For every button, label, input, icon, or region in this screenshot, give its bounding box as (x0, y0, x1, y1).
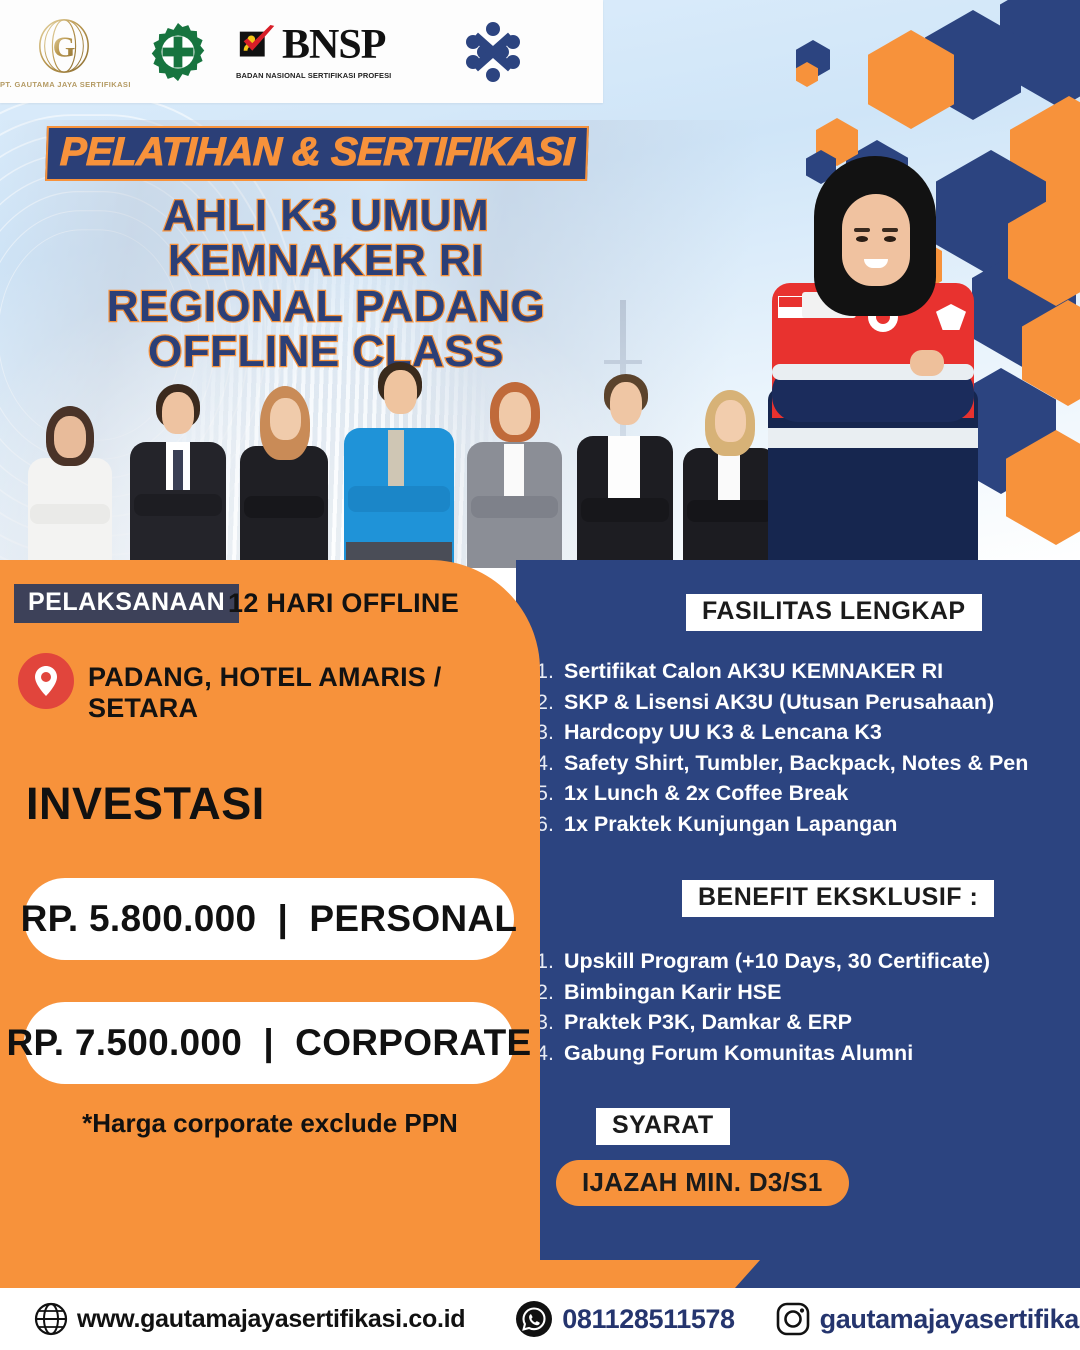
footer-website[interactable]: www.gautamajayasertifikasi.co.id (34, 1302, 465, 1336)
footer-instagram[interactable]: gautamajayasertifikasi (775, 1301, 1080, 1337)
price-card-corporate: RP. 7.500.000 | CORPORATE (24, 1002, 514, 1084)
footer-website-text: www.gautamajayasertifikasi.co.id (77, 1305, 465, 1334)
person-3 (234, 382, 334, 568)
whatsapp-icon (515, 1300, 553, 1338)
k3-gear-icon (147, 21, 209, 83)
benefits-list: 1.Upskill Program (+10 Days, 30 Certific… (536, 946, 990, 1068)
instagram-icon (775, 1301, 811, 1337)
kan-logo (418, 20, 568, 84)
gautama-logo-caption: PT. GAUTAMA JAYA SERTIFIKASI (0, 80, 128, 89)
bnsp-logo-caption: BADAN NASIONAL SERTIFIKASI PROFESI (236, 71, 418, 80)
requirement-value: IJAZAH MIN. D3/S1 (556, 1160, 849, 1206)
headline-title: AHLI K3 UMUM KEMNAKER RI REGIONAL PADANG… (46, 193, 606, 374)
schedule-label: PELAKSANAAN (14, 584, 239, 623)
orange-info-panel: PELAKSANAAN 12 HARI OFFLINE PADANG, HOTE… (0, 560, 540, 1260)
safety-officer-photo (728, 148, 1028, 568)
person-5 (462, 378, 568, 568)
headline-banner: PELATIHAN & SERTIFIKASI (45, 126, 589, 181)
title-line-1: AHLI K3 UMUM (46, 193, 606, 238)
bnsp-logo: BNSP BADAN NASIONAL SERTIFIKASI PROFESI (228, 24, 418, 80)
price-personal-text: RP. 5.800.000 | PERSONAL (21, 898, 518, 940)
navy-info-panel: FASILITAS LENGKAP 1.Sertifikat Calon AK3… (516, 560, 1080, 1288)
footer-instagram-text: gautamajayasertifikasi (820, 1304, 1080, 1335)
facilities-list: 1.Sertifikat Calon AK3U KEMNAKER RI 2.SK… (536, 656, 1028, 839)
schedule-venue: PADANG, HOTEL AMARIS / SETARA (88, 662, 540, 724)
list-item: 3.Hardcopy UU K3 & Lencana K3 (536, 717, 1028, 748)
list-item: 4.Safety Shirt, Tumbler, Backpack, Notes… (536, 748, 1028, 779)
footer-whatsapp[interactable]: 081128511578 (515, 1300, 734, 1338)
navy-footer-wedge (735, 1260, 1080, 1288)
svg-text:G: G (53, 32, 76, 64)
person-2 (126, 378, 230, 568)
bnsp-wordmark: BNSP (282, 27, 385, 65)
list-item: 5.1x Lunch & 2x Coffee Break (536, 778, 1028, 809)
list-item: 3.Praktek P3K, Damkar & ERP (536, 1007, 990, 1038)
headline-block: PELATIHAN & SERTIFIKASI AHLI K3 UMUM KEM… (46, 126, 666, 374)
hero-section: G PT. GAUTAMA JAYA SERTIFIKASI (0, 0, 1080, 568)
benefits-heading: BENEFIT EKSKLUSIF : (682, 880, 994, 917)
orange-footer-wedge (0, 1260, 760, 1288)
list-item: 4.Gabung Forum Komunitas Alumni (536, 1038, 990, 1069)
footer-whatsapp-text: 081128511578 (562, 1304, 734, 1335)
list-item: 2.Bimbingan Karir HSE (536, 977, 990, 1008)
globe-icon: G (0, 14, 128, 78)
person-4 (340, 360, 458, 568)
price-corporate-text: RP. 7.500.000 | CORPORATE (6, 1022, 531, 1064)
globe-icon (34, 1302, 68, 1336)
schedule-duration: 12 HARI OFFLINE (228, 588, 459, 619)
kan-mark-icon (461, 20, 525, 84)
bnsp-mark-icon (236, 24, 280, 68)
list-item: 1.Upskill Program (+10 Days, 30 Certific… (536, 946, 990, 977)
title-line-3: REGIONAL PADANG (46, 284, 606, 329)
footer-bar: www.gautamajayasertifikasi.co.id 0811285… (0, 1288, 1080, 1350)
people-photo-strip (0, 368, 790, 568)
list-item: 6.1x Praktek Kunjungan Lapangan (536, 809, 1028, 840)
location-pin-icon (18, 653, 74, 709)
list-item: 1.Sertifikat Calon AK3U KEMNAKER RI (536, 656, 1028, 687)
gautama-logo: G PT. GAUTAMA JAYA SERTIFIKASI (0, 14, 128, 89)
investment-heading: INVESTASI (26, 778, 265, 830)
person-6 (572, 372, 678, 568)
price-note: *Harga corporate exclude PPN (0, 1108, 540, 1139)
title-line-2: KEMNAKER RI (46, 238, 606, 283)
person-1 (22, 400, 118, 568)
facilities-heading: FASILITAS LENGKAP (686, 594, 982, 631)
list-item: 2.SKP & Lisensi AK3U (Utusan Perusahaan) (536, 687, 1028, 718)
price-card-personal: RP. 5.800.000 | PERSONAL (24, 878, 514, 960)
k3-logo (128, 21, 228, 83)
logo-bar: G PT. GAUTAMA JAYA SERTIFIKASI (0, 0, 603, 103)
requirements-heading: SYARAT (596, 1108, 730, 1145)
